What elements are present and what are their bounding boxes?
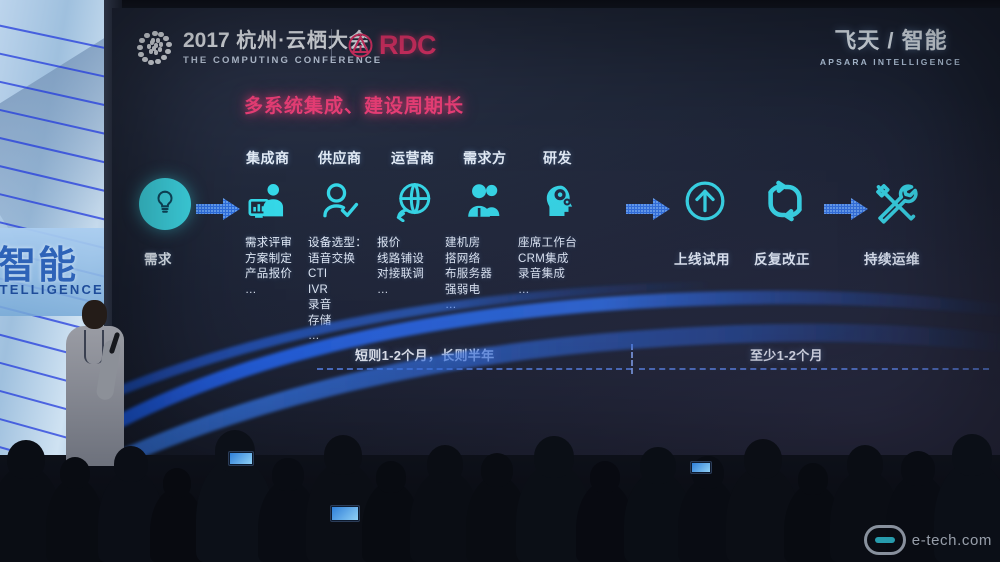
detail-item: 座席工作台 bbox=[518, 236, 577, 252]
detail-item: 布服务器 bbox=[445, 267, 492, 283]
audience-head bbox=[744, 439, 782, 479]
detail-item: 线路铺设 bbox=[377, 252, 424, 268]
audience-head bbox=[798, 463, 828, 495]
audience-head bbox=[481, 453, 513, 487]
timeline-label-0: 短则1-2个月，长则半年 bbox=[355, 345, 494, 364]
detail-item: IVR bbox=[308, 283, 367, 299]
audience-head bbox=[847, 445, 883, 483]
audience-head bbox=[590, 461, 620, 493]
audience-silhouettes bbox=[0, 440, 1000, 562]
wall-banner-en: NTELLIGENCE bbox=[0, 282, 104, 297]
end-node-label-0: 上线试用 bbox=[674, 248, 730, 268]
person-check-icon bbox=[319, 180, 361, 227]
audience-head bbox=[952, 434, 992, 475]
audience-head bbox=[324, 435, 362, 475]
detail-column-2: 报价线路铺设对接联调… bbox=[377, 236, 424, 298]
detail-item: … bbox=[518, 283, 577, 299]
detail-item: 语音交换 bbox=[308, 252, 367, 268]
detail-item: 搭网络 bbox=[445, 252, 492, 268]
globe-arrow-icon bbox=[392, 180, 434, 227]
detail-item: 对接联调 bbox=[377, 267, 424, 283]
watermark: e-tech.com bbox=[864, 525, 992, 555]
end-node-label-2: 持续运维 bbox=[864, 248, 920, 268]
raised-phone bbox=[690, 461, 712, 474]
detail-item: 需求评审 bbox=[245, 236, 292, 252]
detail-item: 报价 bbox=[377, 236, 424, 252]
detail-item: 产品报价 bbox=[245, 267, 292, 283]
audience-head bbox=[901, 451, 934, 486]
detail-column-0: 需求评审方案制定产品报价… bbox=[245, 236, 292, 298]
audience-head bbox=[114, 446, 148, 482]
end-node-label-1: 反复改正 bbox=[754, 248, 810, 268]
detail-item: 录音集成 bbox=[518, 267, 577, 283]
flow-arrow-3 bbox=[824, 198, 868, 220]
timeline-line-right bbox=[639, 368, 989, 370]
detail-item: … bbox=[445, 298, 492, 314]
role-label-0: 集成商 bbox=[246, 148, 290, 168]
detail-item: 方案制定 bbox=[245, 252, 292, 268]
audience-head bbox=[640, 447, 675, 484]
role-label-2: 运营商 bbox=[391, 148, 435, 168]
audience-head bbox=[427, 445, 463, 483]
wall-banner-cn: 智能 bbox=[0, 234, 78, 289]
audience-head bbox=[534, 436, 574, 477]
audience-head bbox=[60, 457, 90, 489]
detail-item: 建机房 bbox=[445, 236, 492, 252]
detail-item: … bbox=[308, 329, 367, 345]
raised-phone bbox=[330, 505, 360, 522]
detail-column-4: 座席工作台CRM集成录音集成… bbox=[518, 236, 577, 298]
detail-item: CTI bbox=[308, 267, 367, 283]
refresh-cycle-icon bbox=[762, 178, 808, 229]
lightbulb-icon bbox=[151, 188, 179, 221]
two-people-icon bbox=[464, 180, 506, 227]
audience-member bbox=[46, 478, 104, 562]
screenshot-root: 智能 NTELLIGENCE 2017 杭州·云栖大会 THE COMPUTIN… bbox=[0, 0, 1000, 562]
arrow-up-circle-icon bbox=[682, 178, 728, 229]
tools-icon bbox=[872, 180, 918, 231]
role-label-4: 研发 bbox=[543, 148, 572, 168]
projection-screen: 2017 杭州·云栖大会 THE COMPUTING CONFERENCE RD… bbox=[112, 8, 1000, 463]
detail-item: 录音 bbox=[308, 298, 367, 314]
person-chart-icon bbox=[247, 180, 289, 227]
detail-item: 设备选型： bbox=[308, 236, 367, 252]
detail-item: 存储 bbox=[308, 314, 367, 330]
timeline-line-left bbox=[317, 368, 632, 370]
audience-head bbox=[7, 440, 44, 479]
watermark-text: e-tech.com bbox=[912, 532, 992, 549]
audience-head bbox=[272, 458, 303, 491]
detail-item: … bbox=[377, 283, 424, 299]
watermark-logo-icon bbox=[864, 525, 906, 555]
detail-column-3: 建机房搭网络布服务器强弱电… bbox=[445, 236, 492, 314]
detail-item: … bbox=[245, 283, 292, 299]
head-gear-icon bbox=[537, 180, 579, 227]
flow-arrow-1 bbox=[196, 198, 240, 220]
detail-item: 强弱电 bbox=[445, 283, 492, 299]
role-label-3: 需求方 bbox=[463, 148, 507, 168]
flow-arrow-2 bbox=[626, 198, 670, 220]
audience-head bbox=[376, 461, 406, 493]
start-node-icon-circle bbox=[139, 178, 191, 230]
process-flow-diagram: 需求 集成商供应商运营商需求方研发需求评审方案制定产品报价…设备选型：语音交换C… bbox=[112, 8, 1000, 463]
start-node-label: 需求 bbox=[144, 248, 172, 268]
timeline-tick-mid bbox=[631, 344, 633, 374]
raised-phone bbox=[228, 451, 254, 466]
timeline-label-1: 至少1-2个月 bbox=[750, 345, 823, 364]
detail-item: CRM集成 bbox=[518, 252, 577, 268]
audience-head bbox=[163, 468, 191, 497]
presenter-head bbox=[82, 300, 107, 329]
detail-column-1: 设备选型：语音交换CTIIVR录音存储… bbox=[308, 236, 367, 345]
role-label-1: 供应商 bbox=[318, 148, 362, 168]
